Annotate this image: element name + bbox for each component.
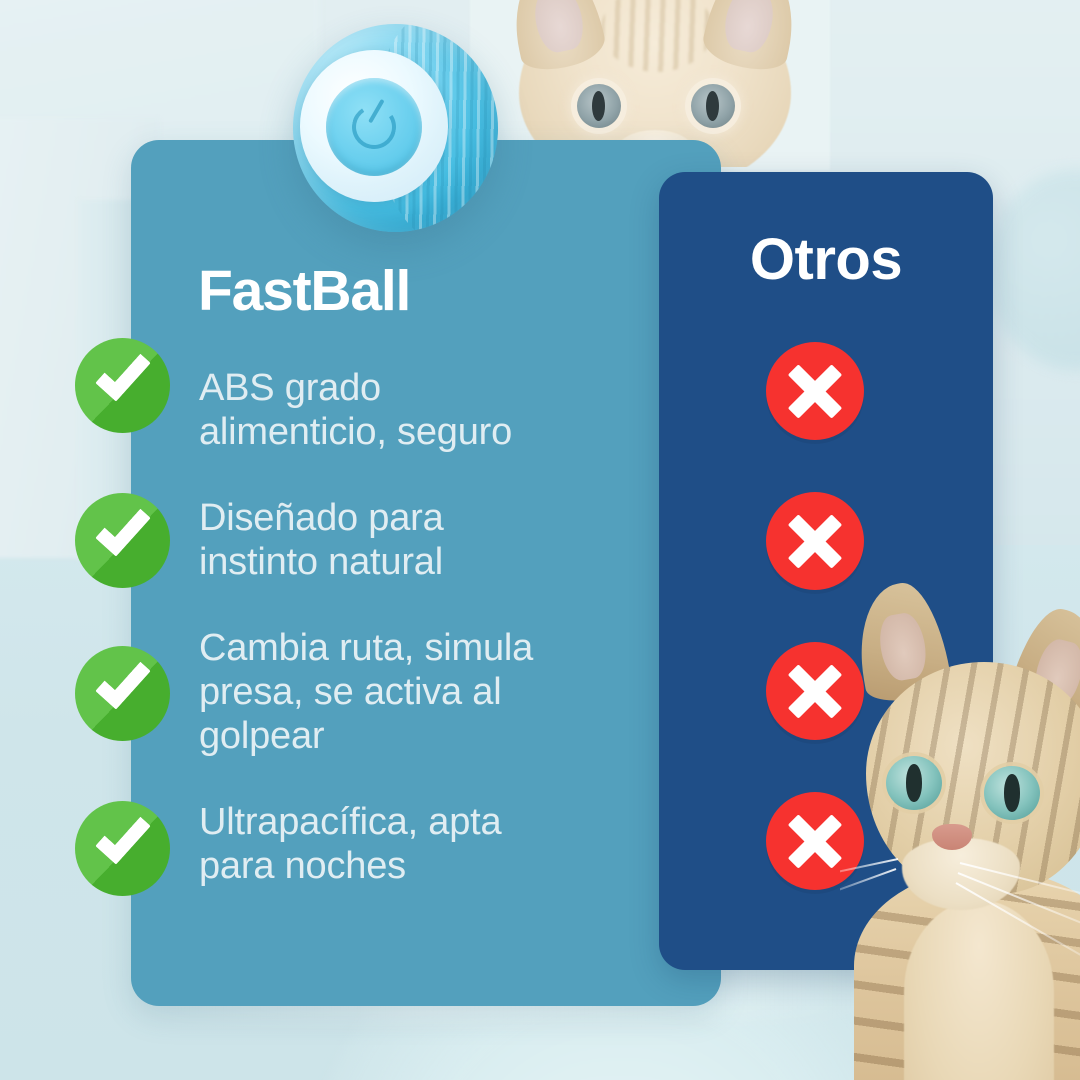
power-button-icon [326, 78, 422, 176]
ball-bezel [300, 50, 448, 202]
green-check-icon [75, 338, 170, 433]
red-x-icon [766, 342, 864, 440]
check-mark-glyph [95, 652, 151, 709]
product-ball-image [293, 24, 498, 232]
kitten-eye-right [691, 84, 735, 128]
green-check-icon [75, 493, 170, 588]
tabby-eye-right [984, 766, 1040, 820]
fastball-title: FastBall [198, 258, 410, 324]
feature-text-4: Ultrapacífica, apta para noches [199, 800, 629, 888]
tabby-cat-photo [840, 570, 1080, 1080]
kitten-eye-left [577, 84, 621, 128]
green-check-icon [75, 646, 170, 741]
feature-text-3: Cambia ruta, simula presa, se activa al … [199, 626, 644, 758]
feature-text-1: ABS grado alimenticio, seguro [199, 366, 629, 454]
tabby-ear-inner-left [875, 610, 930, 683]
power-glyph [348, 101, 400, 153]
tabby-eye-left [886, 756, 942, 810]
kitten-ear-inner-right [720, 0, 778, 56]
tabby-whisker [840, 868, 896, 892]
check-mark-glyph [95, 807, 151, 864]
feature-text-2: Diseñado para instinto natural [199, 496, 629, 584]
kitten-ear-inner-left [530, 0, 588, 56]
otros-title: Otros [659, 226, 993, 293]
check-mark-glyph [95, 499, 151, 556]
green-check-icon [75, 801, 170, 896]
check-mark-glyph [95, 344, 151, 401]
